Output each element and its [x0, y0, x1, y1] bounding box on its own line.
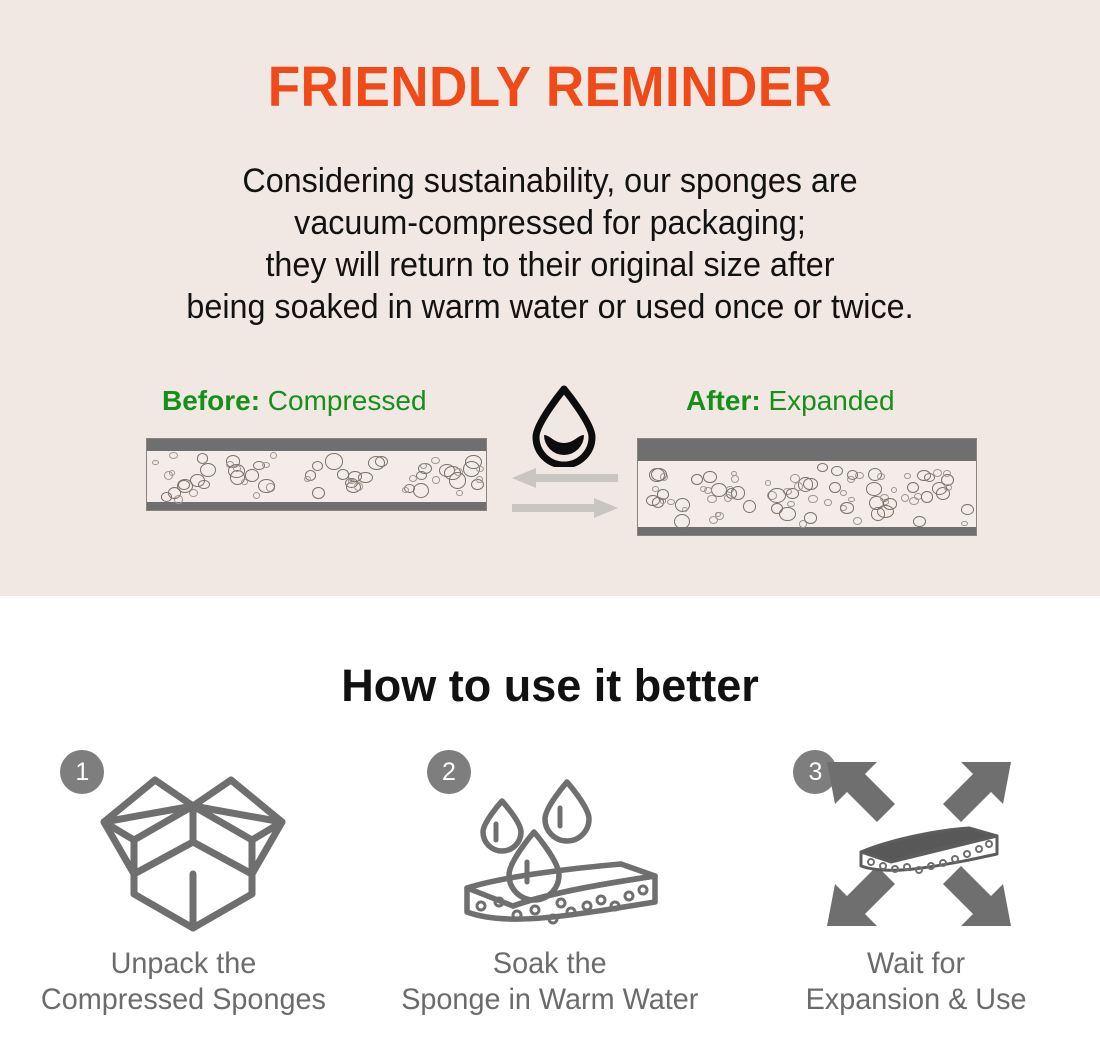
before-state: Compressed	[268, 385, 427, 416]
sponge-pore	[190, 474, 205, 487]
exchange-arrows	[510, 467, 620, 526]
sponge-pore	[961, 521, 968, 527]
sponge-pore	[779, 507, 796, 521]
sponge-bottom-band	[147, 502, 486, 510]
sponge-pore	[883, 498, 898, 510]
sponge-pore	[152, 460, 158, 465]
sponge-pore	[877, 473, 885, 481]
sponge-bottom-band	[638, 527, 976, 535]
sponge-pore	[476, 466, 484, 472]
sponge-pore	[657, 489, 670, 500]
sponge-pore	[704, 487, 712, 494]
sponge-pore	[253, 492, 260, 499]
sponge-pore	[853, 517, 862, 525]
sponge-pore	[354, 482, 363, 491]
step-artwork: 2	[425, 748, 675, 934]
expanding-arrows-sponge-icon	[819, 754, 1019, 934]
step-item: 2	[367, 748, 734, 1018]
sponge-pore	[803, 478, 817, 491]
sponge-pore	[262, 462, 270, 468]
sponge-pore	[909, 497, 919, 505]
reminder-body-line-1: Considering sustainability, our sponges …	[28, 160, 1073, 202]
water-drops-on-sponge-icon	[455, 760, 665, 938]
sponge-pore	[840, 502, 854, 513]
sponge-pore	[709, 516, 718, 524]
reminder-body-line-3: they will return to their original size …	[28, 244, 1073, 286]
sponge-pore	[840, 490, 847, 497]
sponge-pore	[768, 488, 786, 503]
sponge-pore	[913, 516, 926, 527]
step-caption: Wait for Expansion & Use	[806, 946, 1027, 1018]
step-caption: Unpack the Compressed Sponges	[41, 946, 326, 1018]
step-caption: Soak the Sponge in Warm Water	[401, 946, 698, 1018]
step-item: 3	[733, 748, 1100, 1018]
sponge-pore	[476, 476, 483, 483]
before-keyword: Before:	[162, 385, 260, 416]
arrow-right-icon	[512, 498, 618, 518]
sponge-pore	[765, 480, 772, 486]
how-to-heading: How to use it better	[0, 660, 1100, 712]
sponge-pore	[161, 492, 173, 502]
sponge-top-band	[638, 439, 976, 461]
step-artwork: 1	[58, 748, 308, 934]
sponge-pore	[420, 463, 427, 469]
sponge-pore	[325, 453, 343, 470]
before-label: Before: Compressed	[162, 385, 427, 417]
sponge-pore	[449, 472, 466, 489]
sponge-pore	[847, 470, 858, 480]
reminder-body-line-4: being soaked in warm water or used once …	[28, 286, 1073, 328]
sponge-pore	[731, 486, 746, 500]
sponge-pore	[817, 463, 828, 472]
how-to-section: How to use it better 1	[0, 596, 1100, 1039]
sponge-pore	[831, 466, 843, 476]
arrow-left-icon	[512, 468, 618, 488]
sponge-pore	[866, 482, 882, 496]
sponge-pore	[431, 457, 440, 464]
after-state: Expanded	[768, 385, 894, 416]
sponge-pore	[943, 470, 951, 477]
sponge-pore	[456, 490, 462, 496]
before-after-comparison: Before: Compressed After: Expanded	[0, 385, 1100, 560]
step-caption-line-2: Expansion & Use	[806, 982, 1027, 1018]
after-keyword: After:	[686, 385, 761, 416]
sponge-expanded-icon	[637, 438, 977, 536]
step-caption-line-2: Compressed Sponges	[41, 982, 326, 1018]
sponge-pore	[790, 474, 800, 483]
transition-icons	[510, 385, 620, 535]
sponge-pore	[904, 473, 911, 480]
reminder-body: Considering sustainability, our sponges …	[28, 160, 1073, 328]
sponge-pore	[270, 452, 278, 459]
step-artwork: 3	[791, 748, 1041, 934]
sponge-pore	[312, 487, 325, 500]
sponge-pore	[402, 487, 409, 493]
sponge-pore	[829, 482, 841, 493]
sponge-pore	[682, 507, 688, 512]
step-caption-line-1: Unpack the	[41, 946, 326, 982]
sponge-pore	[667, 499, 675, 505]
step-caption-line-1: Wait for	[806, 946, 1027, 982]
reminder-body-line-2: vacuum-compressed for packaging;	[28, 202, 1073, 244]
reminder-section: FRIENDLY REMINDER Considering sustainabi…	[0, 0, 1100, 596]
sponge-compressed-icon	[146, 438, 487, 511]
sponge-pore	[304, 476, 311, 482]
sponge-pore	[228, 464, 245, 478]
after-label: After: Expanded	[686, 385, 895, 417]
sponge-pore	[375, 456, 388, 467]
sponge-pore	[200, 463, 216, 477]
sponge-pore	[691, 474, 703, 485]
sponge-pore	[901, 494, 909, 502]
sponge-pore	[891, 487, 898, 493]
open-box-icon	[98, 766, 288, 938]
sponge-pore	[808, 495, 818, 504]
sponge-pore	[416, 471, 427, 481]
water-drop-icon	[528, 385, 600, 472]
sponge-pore	[944, 484, 952, 491]
sponge-pore	[961, 504, 974, 515]
step-caption-line-1: Soak the	[401, 946, 698, 982]
sponge-pore	[312, 461, 323, 471]
sponge-pore	[743, 500, 756, 513]
sponge-pore	[731, 475, 739, 483]
sponge-pore	[164, 471, 173, 480]
sponge-pore	[804, 512, 818, 524]
step-caption-line-2: Sponge in Warm Water	[401, 982, 698, 1018]
sponge-pore	[703, 471, 716, 483]
how-to-steps: 1	[0, 748, 1100, 1018]
sponge-pore	[824, 499, 832, 505]
sponge-pore	[907, 482, 919, 493]
step-item: 1	[0, 748, 367, 1018]
sponge-pore	[258, 479, 275, 494]
sponge-pore	[169, 452, 178, 459]
page-title: FRIENDLY REMINDER	[39, 54, 1062, 120]
sponge-pore	[432, 476, 441, 484]
sponge-pore	[921, 491, 934, 503]
sponge-top-band	[147, 439, 486, 451]
sponge-pore	[413, 483, 429, 498]
sponge-pore	[241, 479, 247, 485]
